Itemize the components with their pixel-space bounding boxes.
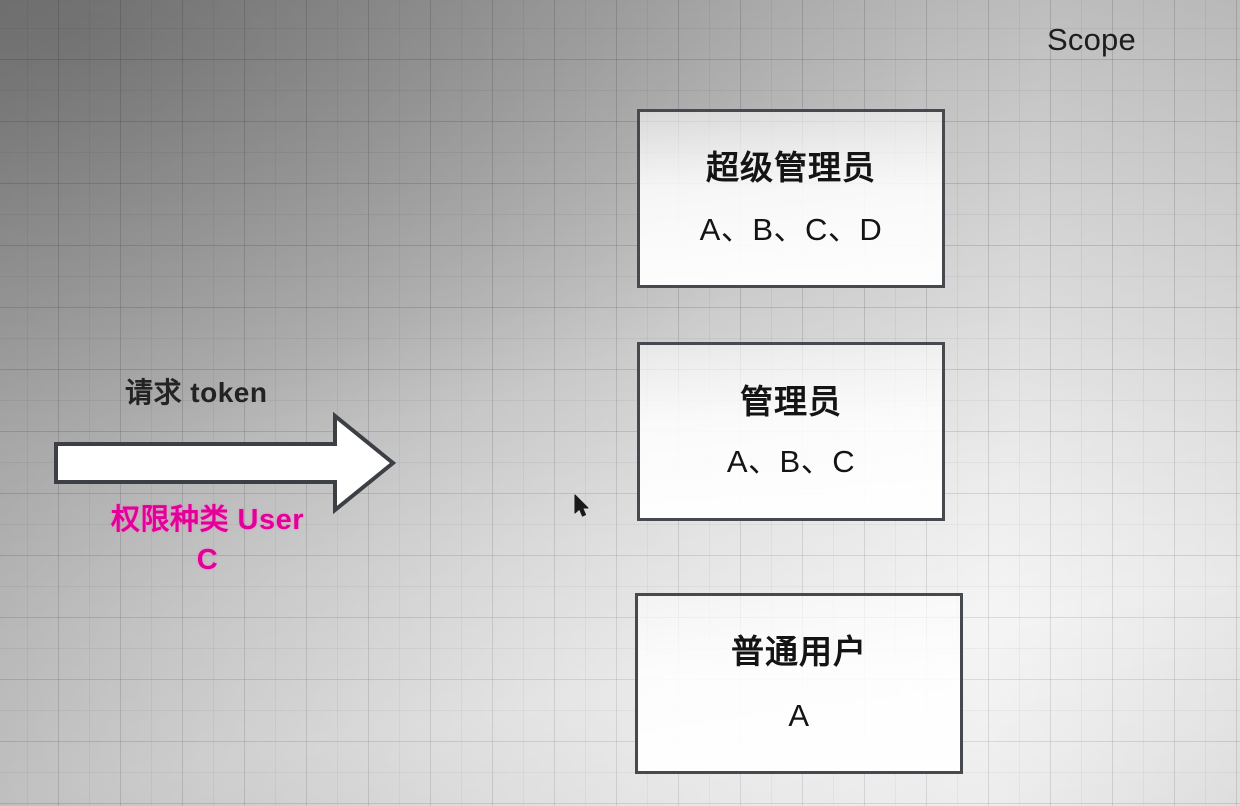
request-scope-line-2: C [0,540,415,580]
role-permissions-super-admin: A、B、C、D [700,213,883,247]
role-box-normal-user: 普通用户 A [635,593,963,774]
mouse-pointer-icon [574,494,592,518]
scope-heading: Scope [1047,22,1136,58]
request-token-label: 请求 token [125,371,267,411]
role-permissions-admin: A、B、C [727,445,855,479]
role-title-admin: 管理员 [740,384,842,420]
request-scope-text: 权限种类 User C [0,500,415,580]
request-scope-line-1: 权限种类 User [0,500,415,540]
role-title-normal-user: 普通用户 [731,634,867,670]
role-box-super-admin: 超级管理员 A、B、C、D [637,109,945,288]
diagram-canvas: Scope 请求 token 权限种类 User C 超级管理员 A、B、C、D… [0,0,1240,806]
role-permissions-normal-user: A [788,699,809,733]
role-title-super-admin: 超级管理员 [706,150,876,186]
role-box-admin: 管理员 A、B、C [637,342,945,521]
